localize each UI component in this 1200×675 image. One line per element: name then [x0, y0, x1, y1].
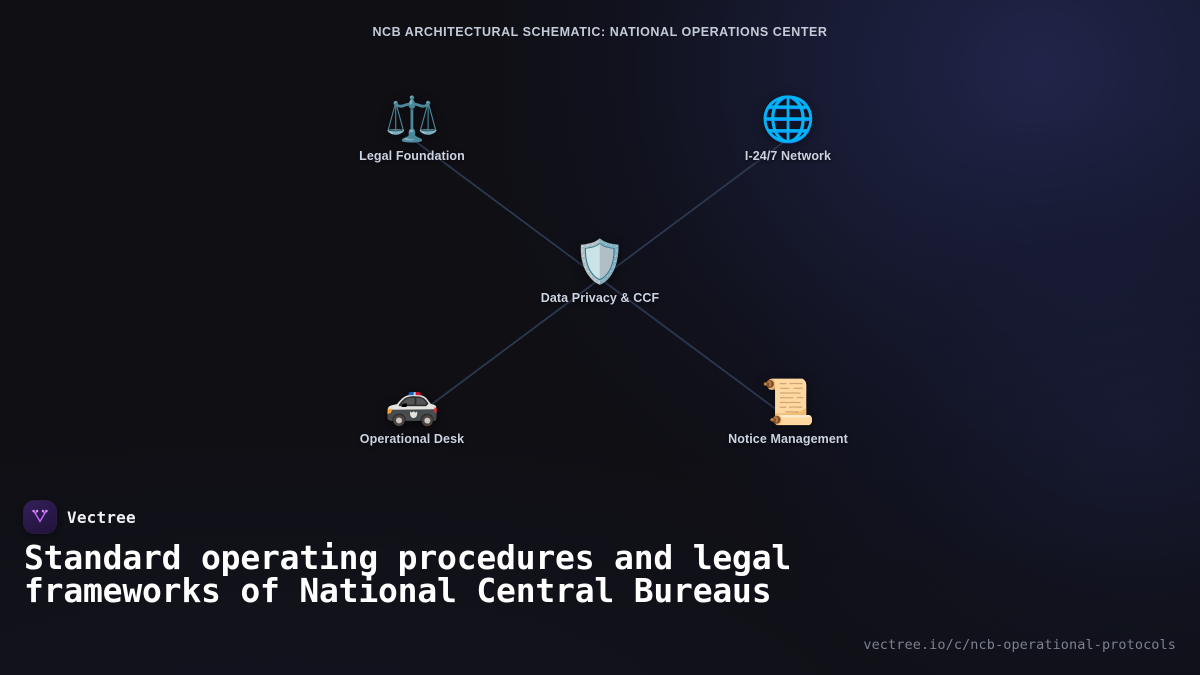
node-label-data-privacy-ccf: Data Privacy & CCF [500, 291, 700, 305]
police-car-icon: 🚓 [312, 378, 512, 428]
globe-icon: 🌐 [688, 95, 888, 145]
node-legal-foundation[interactable]: ⚖️Legal Foundation [312, 95, 512, 163]
node-label-i247-network: I-24/7 Network [688, 149, 888, 163]
node-notice-management[interactable]: 📜Notice Management [688, 378, 888, 446]
schematic-canvas: NCB ARCHITECTURAL SCHEMATIC: NATIONAL OP… [0, 0, 1200, 490]
node-operational-desk[interactable]: 🚓Operational Desk [312, 378, 512, 446]
brand-name: Vectree [67, 508, 136, 527]
node-label-legal-foundation: Legal Foundation [312, 149, 512, 163]
page-headline: Standard operating procedures and legal … [24, 541, 854, 607]
balance-scale-icon: ⚖️ [312, 95, 512, 145]
node-label-operational-desk: Operational Desk [312, 432, 512, 446]
vectree-tree-icon [30, 507, 50, 527]
brand-band: Vectree Standard operating procedures an… [0, 485, 1200, 675]
footer-url: vectree.io/c/ncb-operational-protocols [863, 637, 1176, 653]
vectree-logo [24, 501, 56, 533]
scroll-icon: 📜 [688, 378, 888, 428]
node-data-privacy-ccf[interactable]: 🛡️Data Privacy & CCF [500, 237, 700, 305]
node-label-notice-management: Notice Management [688, 432, 888, 446]
brand-row[interactable]: Vectree [24, 501, 136, 533]
node-i247-network[interactable]: 🌐I-24/7 Network [688, 95, 888, 163]
shield-icon: 🛡️ [500, 237, 700, 287]
